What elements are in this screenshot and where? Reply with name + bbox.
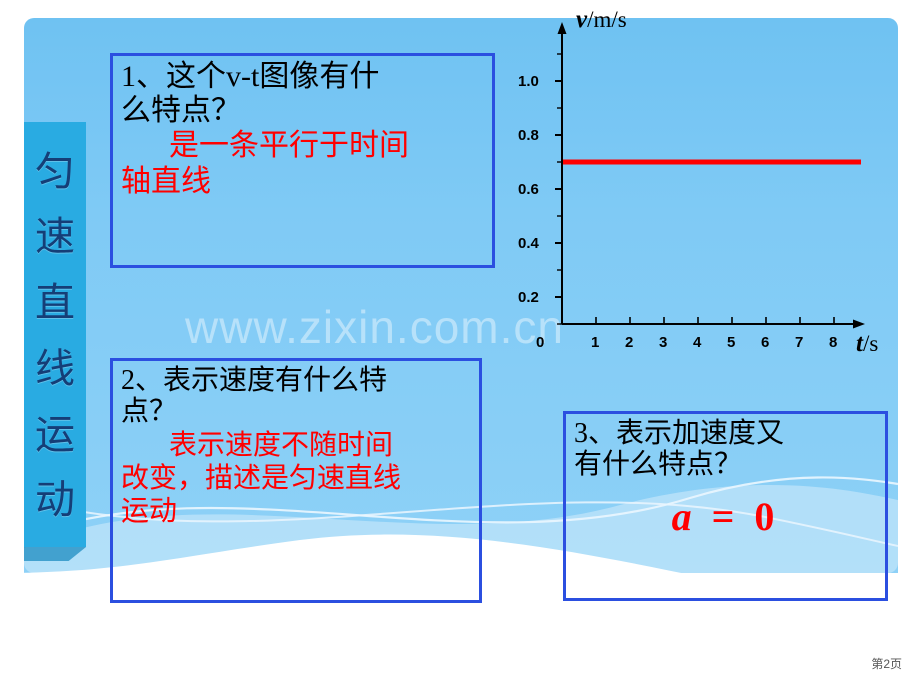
y-axis-label-var: v [576, 6, 587, 33]
y-tick-label-3: 0.8 [518, 127, 539, 144]
y-tick-label-1: 0.4 [518, 235, 539, 252]
formula-variable: a [672, 494, 697, 539]
question-3-line-1: 3、表示加速度又 [574, 418, 879, 449]
answer-2-line-1: 表示速度不随时间 [113, 428, 479, 461]
x-tick-label-3: 3 [659, 334, 667, 351]
vt-graph-svg [500, 0, 920, 380]
question-box-1: 1、这个v-t图像有什 么特点？ 是一条平行于时间 轴直线 [110, 53, 495, 268]
vtitle-char-0: 匀 [35, 152, 75, 192]
x-tick-label-6: 6 [761, 334, 769, 351]
y-axis-label: v/m/s [576, 6, 627, 34]
x-tick-label-1: 1 [591, 334, 599, 351]
x-axis-label: t/s [856, 330, 878, 358]
y-axis-arrow [558, 22, 567, 34]
question-2-text: 2、表示速度有什么特 点？ [113, 361, 479, 428]
question-1-line-1: 1、这个v-t图像有什 [121, 60, 486, 94]
x-axis-arrow [853, 320, 865, 329]
x-tick-label-0: 0 [536, 334, 544, 351]
question-3-text: 3、表示加速度又 有什么特点？ [566, 414, 885, 481]
vtitle-char-5: 动 [35, 480, 75, 520]
formula-rest: = 0 [697, 494, 780, 539]
y-tick-label-0: 0.2 [518, 289, 539, 306]
page-number: 第2页 [871, 655, 902, 672]
vtitle-char-2: 直 [35, 283, 75, 323]
y-major-ticks [555, 81, 562, 297]
x-tick-label-2: 2 [625, 334, 633, 351]
formula-a-equals-zero: a = 0 [566, 481, 885, 540]
question-2-line-1: 2、表示速度有什么特 [121, 365, 473, 396]
vtitle-char-3: 线 [35, 349, 75, 389]
vtitle-char-4: 运 [35, 415, 75, 455]
question-3-line-2: 有什么特点？ [574, 449, 879, 480]
x-tick-label-5: 5 [727, 334, 735, 351]
x-axis-label-unit: /s [863, 331, 878, 356]
vt-graph: v/m/s t/s 0.2 0.4 0.6 0.8 1.0 0 1 2 3 4 … [500, 0, 920, 380]
vertical-title-text: 匀 速 直 线 运 动 [24, 126, 86, 546]
question-1-text: 1、这个v-t图像有什 么特点？ [113, 56, 492, 127]
y-axis-label-unit: /m/s [587, 7, 627, 32]
x-tick-label-4: 4 [693, 334, 701, 351]
x-axis-label-var: t [856, 330, 863, 357]
answer-2-line-2: 改变，描述是匀速直线 [113, 461, 479, 494]
answer-1-line-1: 是一条平行于时间 [113, 127, 492, 163]
y-tick-label-4: 1.0 [518, 73, 539, 90]
slide-canvas: 匀 速 直 线 运 动 www.zixin.com.cn 1、这个v-t图像有什… [0, 0, 920, 690]
question-2-line-2: 点？ [121, 396, 473, 427]
x-tick-label-7: 7 [795, 334, 803, 351]
answer-1-line-2: 轴直线 [113, 163, 492, 199]
y-tick-label-2: 0.6 [518, 181, 539, 198]
x-tick-label-8: 8 [829, 334, 837, 351]
answer-2-line-3: 运动 [113, 494, 479, 527]
question-1-line-2: 么特点？ [121, 94, 486, 128]
vtitle-char-1: 速 [35, 217, 75, 257]
question-box-2: 2、表示速度有什么特 点？ 表示速度不随时间 改变，描述是匀速直线 运动 [110, 358, 482, 603]
x-ticks [596, 317, 834, 324]
question-box-3: 3、表示加速度又 有什么特点？ a = 0 [563, 411, 888, 601]
